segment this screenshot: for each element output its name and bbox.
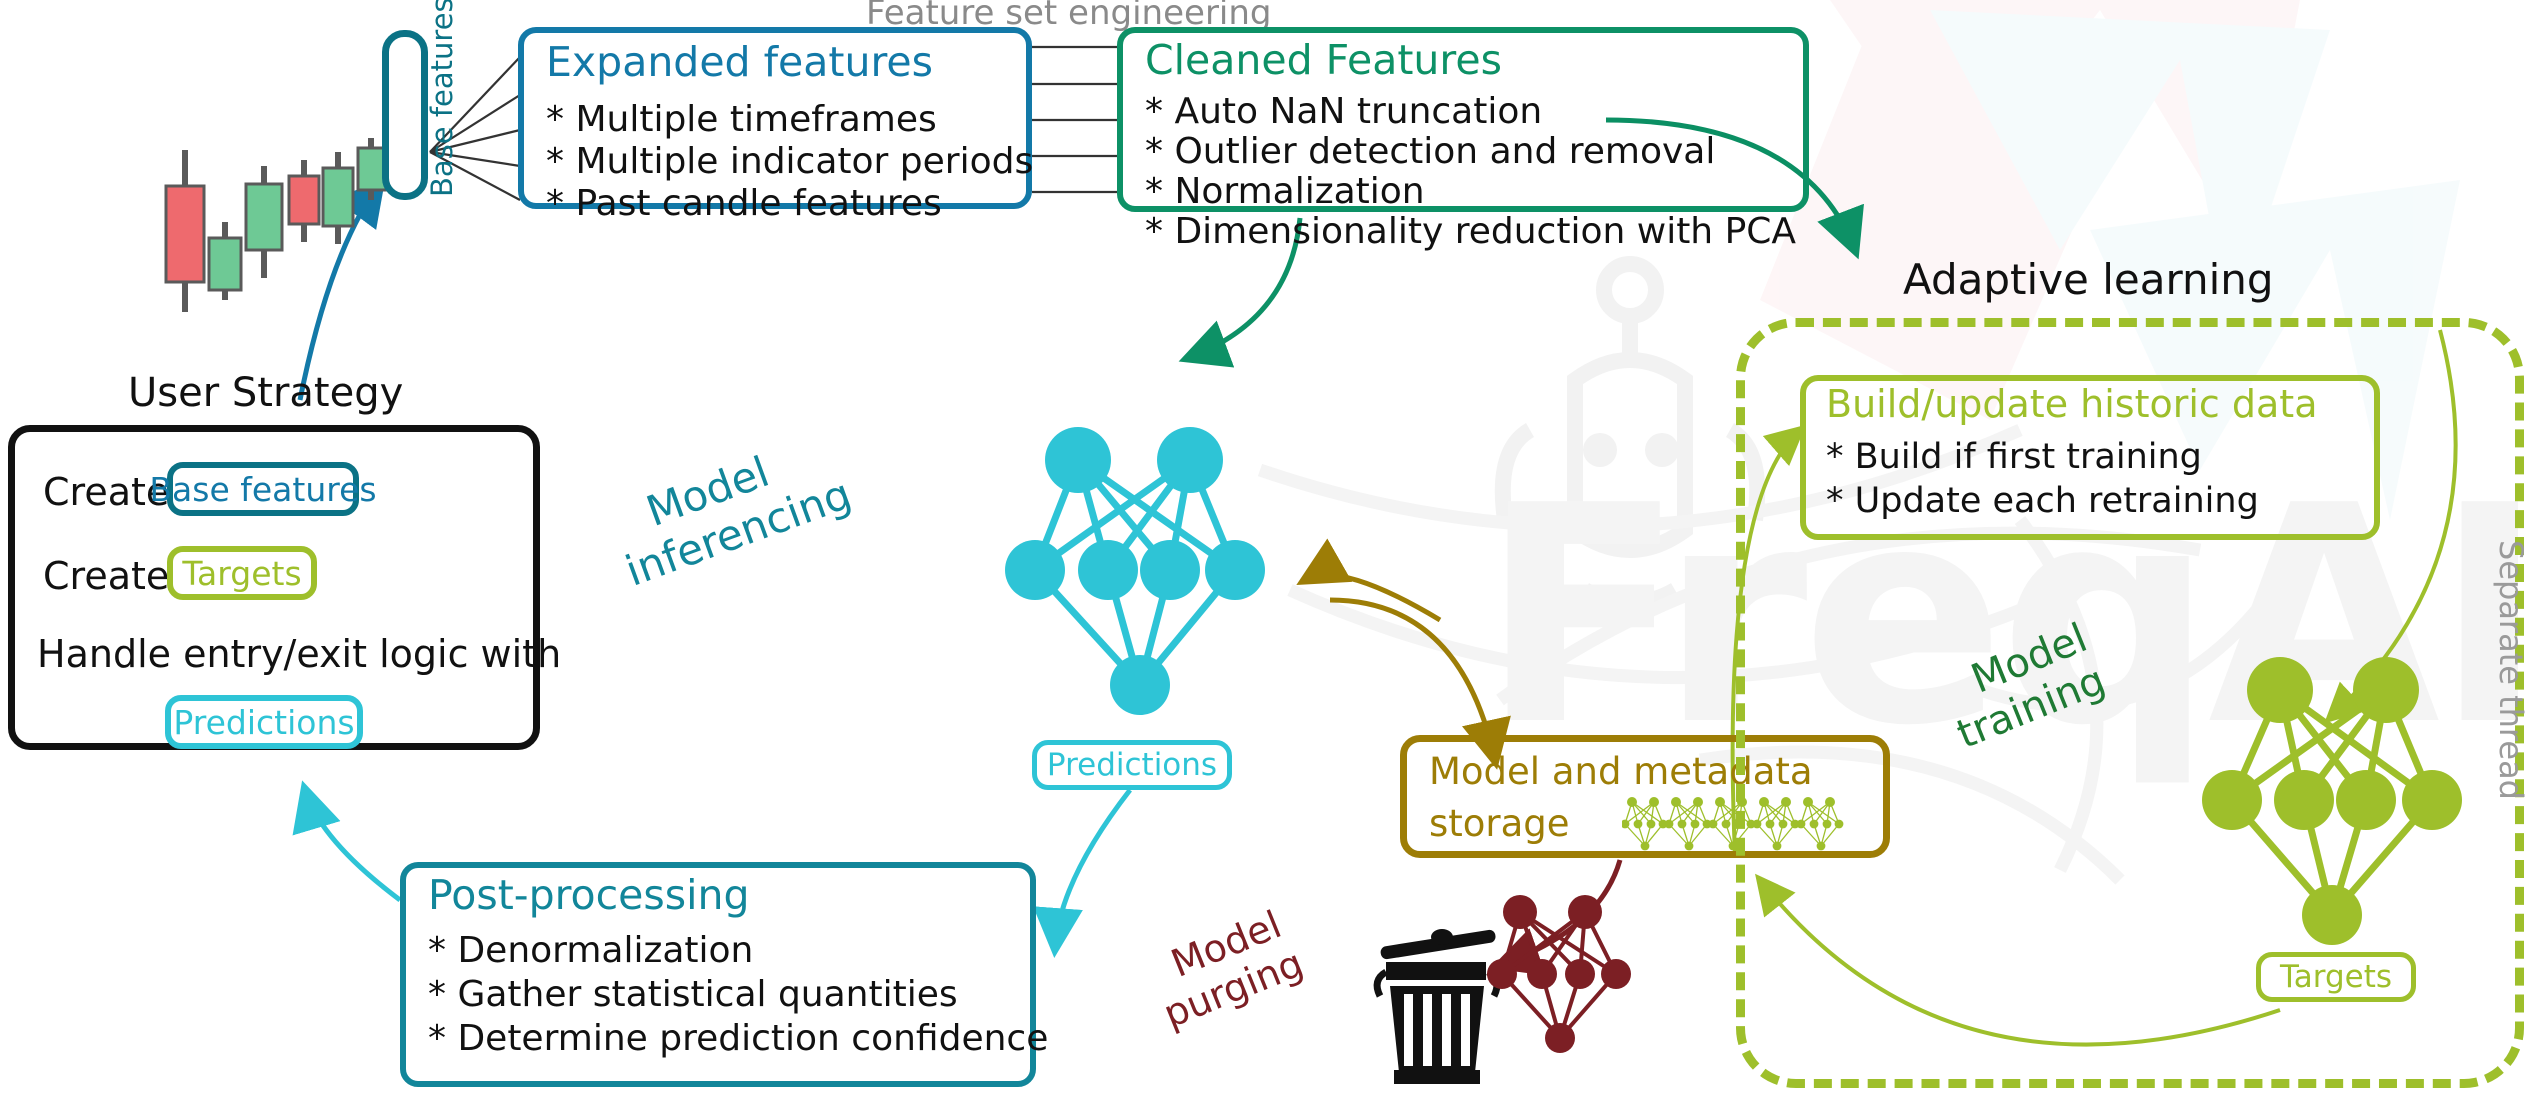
cleaned-features-title: Cleaned Features [1145,39,1502,82]
diagram-canvas: FreqAI [0,0,2539,1104]
targets-pill-strategy[interactable]: Targets [167,546,317,600]
model-purging-label: Model purging [1165,945,1285,1033]
predictions-pill-strategy-label: Predictions [173,703,354,742]
base-features-tab-label: Base features [425,0,459,197]
post-processing-bullet-3: * Determine prediction confidence [428,1018,1048,1060]
predictions-pill-label: Predictions [1047,747,1217,783]
user-strategy-line3-text: Handle entry/exit logic with [37,632,561,677]
expanded-features-box: Expanded features * Multiple timeframes … [518,27,1032,209]
expanded-features-bullet-2: * Multiple indicator periods [546,141,1033,183]
user-strategy-line2-prefix: Create [43,554,169,599]
base-features-pill-label: Base features [149,470,376,509]
candlestick-chart-icon [140,130,410,330]
neural-network-green-icon [2180,630,2480,960]
post-processing-bullet-1: * Denormalization [428,930,753,972]
model-inferencing-label: Model inferencing [640,490,836,588]
neural-network-cyan-icon [1000,420,1300,780]
cleaned-features-bullet-2: * Outlier detection and removal [1145,131,1715,173]
targets-pill-label: Targets [2280,959,2392,995]
expanded-features-bullet-3: * Past candle features [546,183,942,225]
cleaned-features-bullet-4: * Dimensionality reduction with PCA [1145,211,1796,253]
user-strategy-title: User Strategy [128,372,403,414]
cleaned-features-bullet-1: * Auto NaN truncation [1145,91,1542,133]
build-update-bullet-1: * Build if first training [1826,437,2202,478]
post-processing-title: Post-processing [428,874,750,917]
base-features-tab[interactable]: Base features [382,30,428,200]
expanded-features-bullet-1: * Multiple timeframes [546,99,937,141]
cleaned-features-box: Cleaned Features * Auto NaN truncation *… [1117,27,1809,212]
build-update-historic-data-box: Build/update historic data * Build if fi… [1800,375,2380,540]
model-training-label: Model training [1965,660,2086,752]
neural-network-maroon-icon [1480,890,1650,1070]
post-processing-bullet-2: * Gather statistical quantities [428,974,958,1016]
predictions-pill[interactable]: Predictions [1032,740,1232,790]
build-update-title: Build/update historic data [1826,385,2318,425]
cleaned-features-bullet-3: * Normalization [1145,171,1425,213]
user-strategy-box: Create Base features Create Targets Hand… [8,425,540,750]
adaptive-learning-label: Adaptive learning [1903,258,2274,302]
targets-pill-strategy-label: Targets [182,554,301,593]
post-processing-box: Post-processing * Denormalization * Gath… [400,862,1036,1087]
base-features-pill[interactable]: Base features [167,462,359,516]
build-update-bullet-2: * Update each retraining [1826,481,2259,522]
model-storage-line2: storage [1429,802,1570,845]
targets-pill[interactable]: Targets [2256,952,2416,1002]
expanded-features-title: Expanded features [546,41,933,84]
separate-thread-label: Separate thread [2530,540,2539,578]
predictions-pill-strategy[interactable]: Predictions [165,695,363,749]
